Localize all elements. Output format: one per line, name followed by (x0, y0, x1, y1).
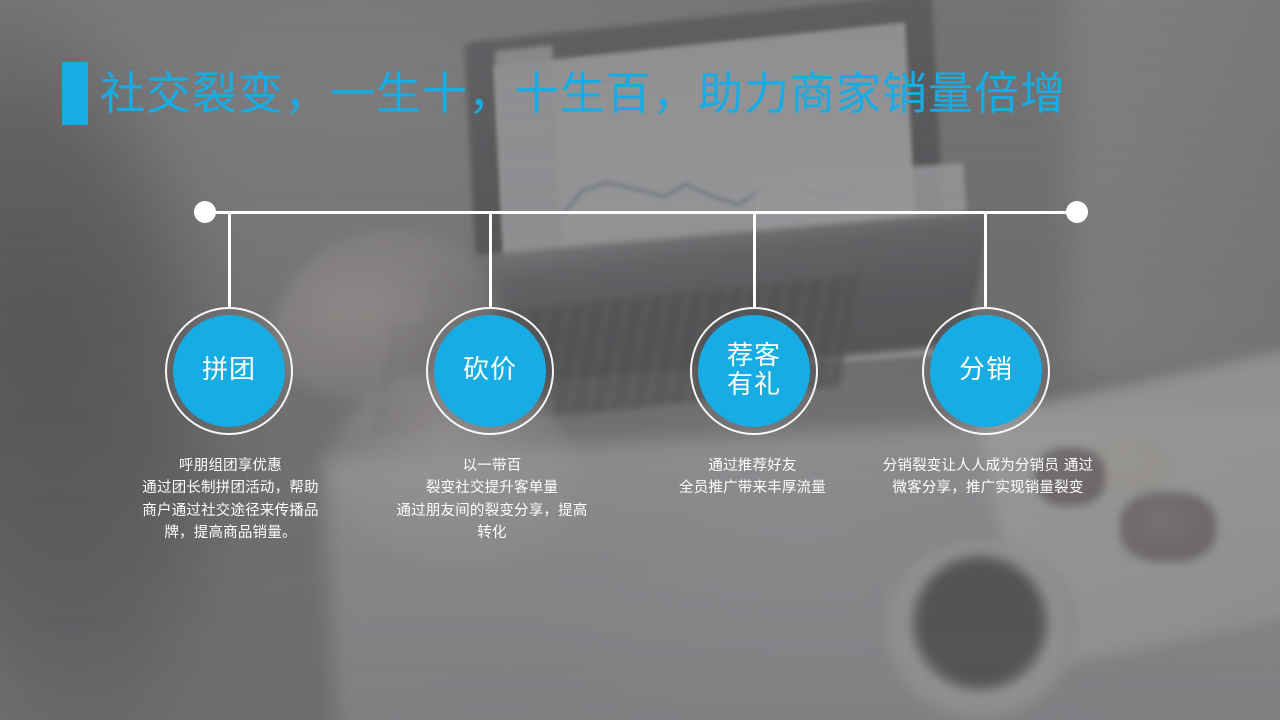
feature-circle-fill: 分销 (930, 315, 1042, 427)
feature-caption-2: 以一带百 裂变社交提升客单量 通过朋友间的裂变分享，提高转化 (392, 455, 592, 545)
title-accent-bar (62, 62, 88, 125)
slide-title-row: 社交裂变，一生十，十生百，助力商家销量倍增 (62, 62, 1066, 125)
connector-drop-line (753, 213, 756, 309)
connector-drop-line (489, 213, 492, 309)
feature-circle-label: 分销 (959, 356, 1013, 385)
page-title: 社交裂变，一生十，十生百，助力商家销量倍增 (100, 71, 1066, 116)
feature-circle-fill: 荐客 有礼 (698, 315, 810, 427)
feature-node-1[interactable]: 拼团 (165, 307, 293, 435)
slide-content: 社交裂变，一生十，十生百，助力商家销量倍增 拼团砍价荐客 有礼分销 呼朋组团享优… (0, 0, 1280, 720)
feature-node-4[interactable]: 分销 (922, 307, 1050, 435)
feature-circle-fill: 砍价 (434, 315, 546, 427)
feature-circle-ring: 荐客 有礼 (690, 307, 818, 435)
feature-circle-fill: 拼团 (173, 315, 285, 427)
presentation-slide: 社交裂变，一生十，十生百，助力商家销量倍增 拼团砍价荐客 有礼分销 呼朋组团享优… (0, 0, 1280, 720)
feature-circle-ring: 分销 (922, 307, 1050, 435)
feature-caption-3: 通过推荐好友 全员推广带来丰厚流量 (665, 455, 840, 500)
connector-drop-line (984, 213, 987, 309)
feature-node-2[interactable]: 砍价 (426, 307, 554, 435)
feature-circle-label: 荐客 有礼 (727, 342, 781, 400)
feature-node-3[interactable]: 荐客 有礼 (690, 307, 818, 435)
feature-circle-label: 砍价 (463, 356, 517, 385)
connector-drop-line (228, 213, 231, 309)
feature-circle-ring: 砍价 (426, 307, 554, 435)
connector-rail (205, 211, 1080, 214)
connector-dot-left (194, 201, 216, 223)
feature-circle-ring: 拼团 (165, 307, 293, 435)
feature-caption-1: 呼朋组团享优惠 通过团长制拼团活动，帮助商户通过社交途径来传播品牌，提高商品销量… (138, 455, 323, 545)
feature-caption-4: 分销裂变让人人成为分销员 通过微客分享，推广实现销量裂变 (880, 455, 1096, 500)
connector-dot-right (1066, 201, 1088, 223)
feature-circle-label: 拼团 (202, 356, 256, 385)
